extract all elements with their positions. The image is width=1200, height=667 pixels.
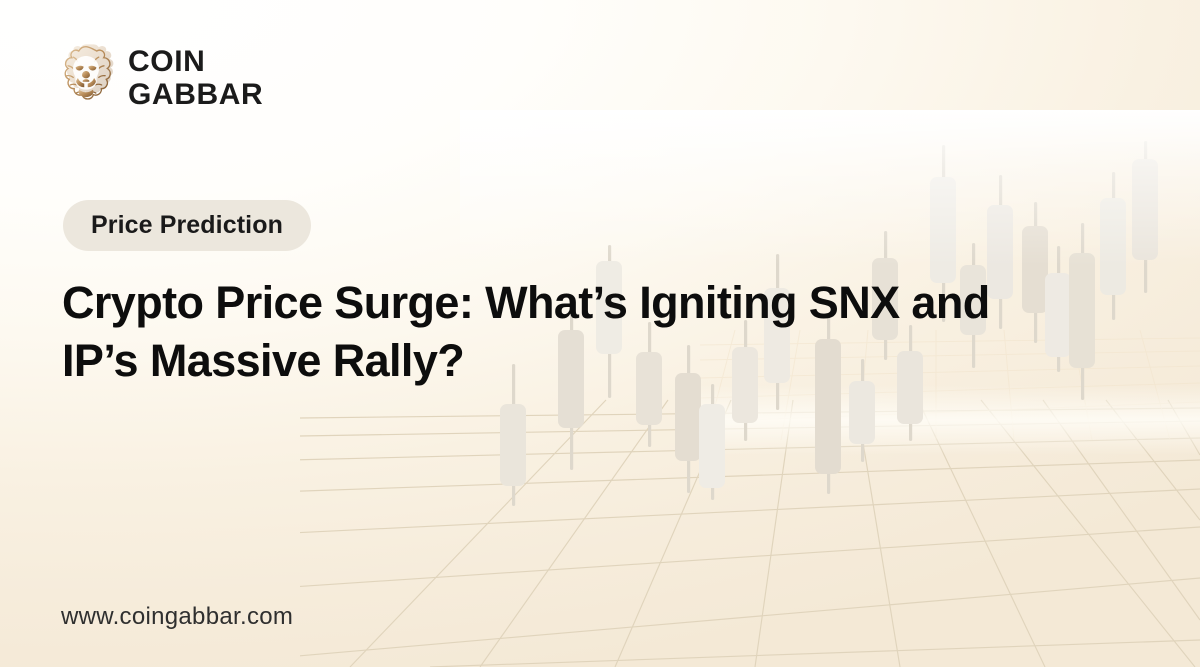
logo-line-1: COIN [128, 47, 263, 77]
logo-line-2: GABBAR [128, 80, 263, 110]
horizon-glow [700, 385, 1200, 455]
page-title: Crypto Price Surge: What’s Igniting SNX … [62, 274, 1137, 390]
banner-root: COIN GABBAR Price Prediction Crypto Pric… [0, 0, 1200, 667]
site-url[interactable]: www.coingabbar.com [61, 603, 293, 631]
lion-head-logo-icon [57, 42, 115, 114]
headline-line-1: Crypto Price Surge: What’s Igniting SNX … [62, 274, 1137, 332]
logo[interactable]: COIN GABBAR [57, 42, 263, 114]
logo-wordmark: COIN GABBAR [128, 47, 263, 110]
floor-grid [170, 400, 1200, 667]
category-badge[interactable]: Price Prediction [63, 200, 311, 251]
headline-line-2: IP’s Massive Rally? [62, 332, 1137, 390]
